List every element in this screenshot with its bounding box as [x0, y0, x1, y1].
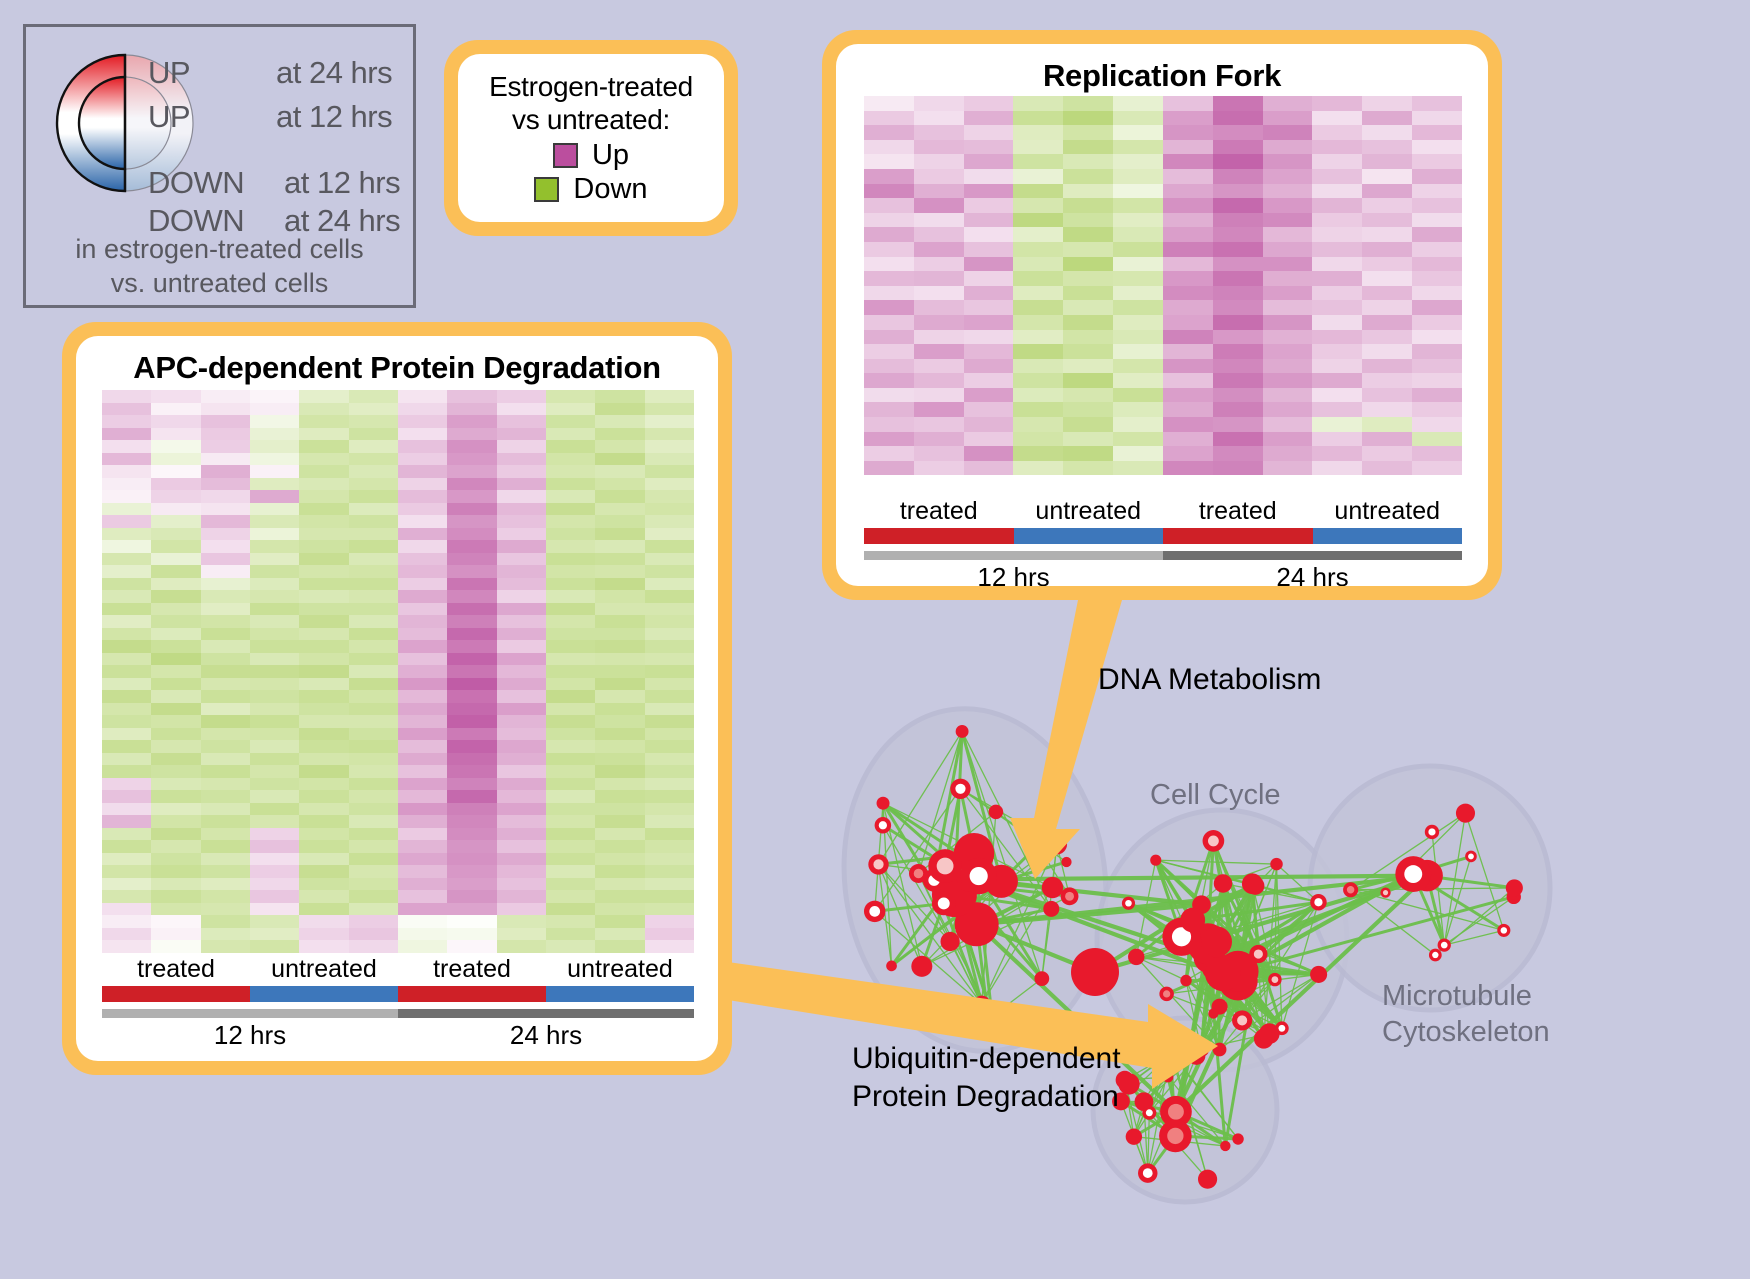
heatmap-cell	[1312, 402, 1362, 417]
heatmap-cell	[1163, 446, 1213, 461]
heatmap-cell	[201, 903, 250, 916]
heatmap-cell	[201, 890, 250, 903]
heatmap-cell	[349, 478, 398, 491]
heatmap-cell	[1013, 417, 1063, 432]
heatmap-cell	[1063, 242, 1113, 257]
heatmap-cell	[1113, 125, 1163, 140]
heatmap-cell	[595, 603, 644, 616]
heatmap-cell	[1312, 140, 1362, 155]
heatmap-cell	[447, 753, 496, 766]
heatmap-cell	[1113, 96, 1163, 111]
heatmap-cell	[250, 428, 299, 441]
apc-title: APC-dependent Protein Degradation	[76, 336, 718, 386]
heatmap-cell	[201, 865, 250, 878]
network-node	[868, 854, 888, 874]
heatmap-cell	[102, 440, 151, 453]
heatmap-cell	[201, 478, 250, 491]
heatmap-cell	[595, 703, 644, 716]
heatmap-cell	[546, 878, 595, 891]
network-node	[1128, 949, 1144, 965]
heatmap-cell	[398, 828, 447, 841]
heatmap-cell	[349, 465, 398, 478]
heatmap-cell	[201, 653, 250, 666]
heatmap-cell	[546, 790, 595, 803]
heatmap-cell	[250, 653, 299, 666]
heatmap-cell	[1213, 402, 1263, 417]
heatmap-cell	[299, 840, 348, 853]
heatmap-cell	[398, 503, 447, 516]
heatmap-cell	[299, 665, 348, 678]
heatmap-cell	[447, 490, 496, 503]
heatmap-cell	[595, 478, 644, 491]
heatmap-cell	[102, 928, 151, 941]
heatmap-cell	[546, 928, 595, 941]
network-node	[1438, 938, 1451, 951]
heatmap-cell	[349, 653, 398, 666]
heatmap-cell	[102, 778, 151, 791]
heatmap-cell	[102, 803, 151, 816]
heatmap-cell	[201, 453, 250, 466]
heatmap-cell	[201, 803, 250, 816]
heatmap-cell	[1263, 198, 1313, 213]
heatmap-cell	[349, 703, 398, 716]
heatmap-cell	[151, 578, 200, 591]
heatmap-cell	[201, 790, 250, 803]
heatmap-cell	[1412, 125, 1462, 140]
heatmap-cell	[102, 853, 151, 866]
heatmap-cell	[201, 615, 250, 628]
heatmap-cell	[1163, 402, 1213, 417]
network-node	[1122, 897, 1135, 910]
heatmap-cell	[595, 578, 644, 591]
heatmap-cell	[102, 840, 151, 853]
heatmap-cell	[102, 453, 151, 466]
heatmap-cell	[1362, 344, 1412, 359]
heatmap-cell	[151, 528, 200, 541]
heatmap-cell	[102, 490, 151, 503]
heatmap-cell	[151, 678, 200, 691]
heatmap-cell	[250, 715, 299, 728]
network-node	[1034, 971, 1049, 986]
heatmap-cell	[299, 828, 348, 841]
heatmap-cell	[151, 615, 200, 628]
heatmap-cell	[645, 628, 694, 641]
heatmap-cell	[595, 940, 644, 953]
heatmap-cell	[1312, 446, 1362, 461]
heatmap-cell	[349, 553, 398, 566]
rf-timebar-12	[864, 551, 1163, 560]
heatmap-cell	[1362, 184, 1412, 199]
heatmap-cell	[102, 815, 151, 828]
heatmap-cell	[151, 628, 200, 641]
heatmap-cell	[250, 590, 299, 603]
heatmap-cell	[349, 640, 398, 653]
network-node	[1161, 1042, 1181, 1062]
heatmap-cell	[1362, 154, 1412, 169]
heatmap-cell	[546, 528, 595, 541]
heatmap-cell	[447, 703, 496, 716]
heatmap-cell	[299, 453, 348, 466]
heatmap-cell	[595, 740, 644, 753]
heatmap-cell	[595, 640, 644, 653]
heatmap-cell	[349, 490, 398, 503]
heatmap-cell	[645, 703, 694, 716]
network-node	[1465, 851, 1477, 863]
heatmap-cell	[1113, 344, 1163, 359]
heatmap-cell	[1412, 461, 1462, 476]
legend-caption: in estrogen-treated cells vs. untreated …	[26, 232, 413, 300]
heatmap-cell	[1163, 140, 1213, 155]
heatmap-cell	[299, 428, 348, 441]
rf-cond-0: treated	[864, 496, 1014, 526]
heatmap-cell	[201, 778, 250, 791]
heatmap-cell	[299, 628, 348, 641]
heatmap-cell	[151, 690, 200, 703]
heatmap-cell	[447, 640, 496, 653]
heatmap-cell	[1312, 227, 1362, 242]
heatmap-cell	[964, 461, 1014, 476]
heatmap-cell	[299, 528, 348, 541]
heatmap-cell	[102, 878, 151, 891]
heatmap-cell	[299, 565, 348, 578]
heatmap-cell	[398, 465, 447, 478]
heatmap-cell	[964, 402, 1014, 417]
heatmap-cell	[1412, 432, 1462, 447]
heatmap-cell	[1063, 198, 1113, 213]
heatmap-cell	[1263, 257, 1313, 272]
heatmap-cell	[497, 465, 546, 478]
heatmap-cell	[398, 840, 447, 853]
heatmap-cell	[299, 803, 348, 816]
heatmap-cell	[546, 865, 595, 878]
heatmap-cell	[864, 213, 914, 228]
heatmap-cell	[1263, 373, 1313, 388]
network-node	[950, 779, 970, 799]
heatmap-cell	[447, 390, 496, 403]
heatmap-cell	[1312, 271, 1362, 286]
heatmap-cell	[546, 540, 595, 553]
heatmap-cell	[497, 728, 546, 741]
heatmap-cell	[546, 940, 595, 953]
heatmap-cell	[497, 528, 546, 541]
heatmap-cell	[349, 503, 398, 516]
heatmap-cell	[864, 432, 914, 447]
heatmap-cell	[447, 778, 496, 791]
network-node	[1395, 856, 1431, 892]
heatmap-cell	[1362, 446, 1412, 461]
heatmap-cell	[964, 446, 1014, 461]
apc-timebar-12	[102, 1009, 398, 1018]
heatmap-cell	[201, 390, 250, 403]
heatmap-cell	[1263, 446, 1313, 461]
heatmap-cell	[1312, 213, 1362, 228]
heatmap-cell	[1412, 446, 1462, 461]
heatmap-cell	[151, 590, 200, 603]
heatmap-cell	[1113, 154, 1163, 169]
heatmap-cell	[299, 815, 348, 828]
heatmap-cell	[645, 778, 694, 791]
legend-time-up-12: at 12 hrs	[276, 99, 392, 135]
heatmap-cell	[151, 478, 200, 491]
heatmap-cell	[398, 678, 447, 691]
heatmap-cell	[1263, 286, 1313, 301]
heatmap-cell	[447, 765, 496, 778]
heatmap-cell	[151, 640, 200, 653]
heatmap-cell	[398, 653, 447, 666]
heatmap-cell	[1063, 446, 1113, 461]
heatmap-cell	[201, 853, 250, 866]
heatmap-cell	[250, 853, 299, 866]
heatmap-cell	[1163, 344, 1213, 359]
heatmap-cell	[398, 578, 447, 591]
heatmap-cell	[398, 640, 447, 653]
heatmap-cell	[201, 515, 250, 528]
heatmap-cell	[1213, 286, 1263, 301]
heatmap-cell	[447, 728, 496, 741]
heatmap-cell	[1213, 169, 1263, 184]
heatmap-cell	[349, 890, 398, 903]
heatmap-cell	[645, 640, 694, 653]
heatmap-cell	[1163, 271, 1213, 286]
heatmap-cell	[398, 878, 447, 891]
heatmap-cell	[595, 690, 644, 703]
heatmap-cell	[1362, 373, 1412, 388]
heatmap-cell	[102, 865, 151, 878]
heatmap-cell	[1412, 213, 1462, 228]
network-node	[961, 858, 997, 894]
heatmap-cell	[1213, 154, 1263, 169]
heatmap-cell	[447, 678, 496, 691]
heatmap-cell	[250, 778, 299, 791]
network-node	[1180, 908, 1205, 933]
heatmap-cell	[595, 803, 644, 816]
rf-time-0: 12 hrs	[864, 560, 1163, 586]
heatmap-cell	[595, 515, 644, 528]
network-node	[1425, 825, 1439, 839]
heatmap-cell	[447, 603, 496, 616]
heatmap-cell	[1412, 417, 1462, 432]
heatmap-cell	[1113, 402, 1163, 417]
heatmap-cell	[102, 728, 151, 741]
heatmap-cell	[497, 903, 546, 916]
heatmap-cell	[447, 478, 496, 491]
heatmap-cell	[447, 540, 496, 553]
network-node	[1497, 924, 1510, 937]
heatmap-cell	[595, 415, 644, 428]
heatmap-cell	[645, 740, 694, 753]
heatmap-cell	[1013, 359, 1063, 374]
heatmap-cell	[1063, 300, 1113, 315]
heatmap-cell	[1362, 242, 1412, 257]
heatmap-cell	[1063, 344, 1113, 359]
heatmap-cell	[864, 330, 914, 345]
network-node	[956, 725, 969, 738]
colorwheel-legend: UP at 24 hrs UP at 12 hrs DOWN at 12 hrs…	[23, 24, 416, 308]
heatmap-cell	[299, 690, 348, 703]
heatmap-cell	[151, 540, 200, 553]
heatmap-cell	[1412, 96, 1462, 111]
heatmap-cell	[497, 615, 546, 628]
heatmap-cell	[299, 403, 348, 416]
heatmap-cell	[595, 528, 644, 541]
heatmap-cell	[1312, 96, 1362, 111]
heatmap-cell	[864, 388, 914, 403]
heatmap-cell	[595, 778, 644, 791]
down-swatch-icon	[534, 177, 559, 202]
heatmap-cell	[1263, 111, 1313, 126]
heatmap-cell	[645, 903, 694, 916]
heatmap-cell	[299, 740, 348, 753]
heatmap-cell	[1312, 198, 1362, 213]
apc-time-1: 24 hrs	[398, 1018, 694, 1052]
heatmap-cell	[645, 515, 694, 528]
heatmap-cell	[151, 753, 200, 766]
heatmap-cell	[914, 154, 964, 169]
heatmap-cell	[1312, 315, 1362, 330]
network-node	[1071, 948, 1119, 996]
network-node	[941, 932, 960, 951]
heatmap-cell	[1013, 227, 1063, 242]
heatmap-cell	[1163, 286, 1213, 301]
heatmap-cell	[349, 628, 398, 641]
heatmap-cell	[1362, 330, 1412, 345]
heatmap-cell	[250, 740, 299, 753]
up-swatch-icon	[553, 143, 578, 168]
heatmap-cell	[964, 315, 1014, 330]
heatmap-cell	[914, 344, 964, 359]
heatmap-cell	[1412, 300, 1462, 315]
heatmap-cell	[1163, 300, 1213, 315]
heatmap-cell	[1213, 271, 1263, 286]
heatmap-cell	[964, 169, 1014, 184]
heatmap-cell	[1213, 432, 1263, 447]
heatmap-cell	[914, 417, 964, 432]
apc-bar-treated-24	[398, 986, 546, 1002]
heatmap-cell	[151, 940, 200, 953]
heatmap-cell	[1163, 213, 1213, 228]
network-node	[1205, 955, 1241, 991]
heatmap-cell	[398, 740, 447, 753]
heatmap-cell	[1213, 242, 1263, 257]
heatmap-cell	[864, 300, 914, 315]
heatmap-cell	[250, 415, 299, 428]
heatmap-cell	[595, 453, 644, 466]
heatmap-cell	[250, 878, 299, 891]
apc-time-bars	[102, 1009, 694, 1018]
heatmap-cell	[398, 415, 447, 428]
heatmap-cell	[447, 878, 496, 891]
heatmap-cell	[349, 578, 398, 591]
heatmap-cell	[1013, 344, 1063, 359]
heatmap-cell	[964, 344, 1014, 359]
heatmap-cell	[201, 940, 250, 953]
heatmap-cell	[349, 915, 398, 928]
heatmap-cell	[546, 465, 595, 478]
heatmap-cell	[1213, 257, 1263, 272]
network-node	[1214, 874, 1232, 892]
heatmap-cell	[1412, 257, 1462, 272]
heatmap-cell	[1362, 96, 1412, 111]
heatmap-cell	[1213, 373, 1263, 388]
heatmap-cell	[645, 928, 694, 941]
heatmap-cell	[864, 242, 914, 257]
heatmap-cell	[299, 853, 348, 866]
heatmap-cell	[964, 432, 1014, 447]
heatmap-cell	[645, 565, 694, 578]
heatmap-cell	[1113, 315, 1163, 330]
heatmap-cell	[595, 915, 644, 928]
heatmap-cell	[1163, 388, 1213, 403]
heatmap-cell	[1412, 402, 1462, 417]
heatmap-cell	[250, 803, 299, 816]
heatmap-cell	[497, 915, 546, 928]
heatmap-cell	[299, 490, 348, 503]
heatmap-cell	[447, 865, 496, 878]
heatmap-cell	[299, 903, 348, 916]
heatmap-cell	[546, 890, 595, 903]
legend-time-down-12: at 12 hrs	[284, 165, 400, 201]
heatmap-cell	[1263, 417, 1313, 432]
heatmap-cell	[250, 903, 299, 916]
heatmap-cell	[201, 540, 250, 553]
heatmap-cell	[250, 453, 299, 466]
heatmap-cell	[299, 778, 348, 791]
network-node	[1246, 877, 1264, 895]
heatmap-cell	[1013, 373, 1063, 388]
heatmap-cell	[299, 578, 348, 591]
heatmap-cell	[595, 853, 644, 866]
heatmap-cell	[299, 878, 348, 891]
heatmap-cell	[964, 373, 1014, 388]
heatmap-cell	[250, 603, 299, 616]
heatmap-cell	[1113, 330, 1163, 345]
heatmap-cell	[102, 703, 151, 716]
heatmap-cell	[102, 465, 151, 478]
network-node	[877, 797, 890, 810]
heatmap-cell	[250, 528, 299, 541]
heatmap-cell	[349, 865, 398, 878]
heatmap-cell	[546, 390, 595, 403]
heatmap-cell	[497, 890, 546, 903]
heatmap-cell	[497, 503, 546, 516]
heatmap-cell	[201, 640, 250, 653]
heatmap-cell	[497, 865, 546, 878]
heatmap-cell	[1113, 432, 1163, 447]
heatmap-cell	[1163, 359, 1213, 374]
heatmap-cell	[1013, 388, 1063, 403]
rf-cond-1: untreated	[1014, 496, 1164, 526]
heatmap-cell	[645, 465, 694, 478]
heatmap-cell	[546, 803, 595, 816]
heatmap-cell	[1412, 388, 1462, 403]
heatmap-cell	[914, 111, 964, 126]
heatmap-cell	[1362, 111, 1412, 126]
apc-cond-2: treated	[398, 954, 546, 984]
heatmap-cell	[546, 590, 595, 603]
heatmap-cell	[299, 503, 348, 516]
network-node	[1126, 1128, 1142, 1144]
network-node	[1429, 949, 1442, 962]
heatmap-cell	[201, 690, 250, 703]
heatmap-cell	[645, 715, 694, 728]
heatmap-cell	[398, 690, 447, 703]
heatmap-cell	[1113, 169, 1163, 184]
heatmap-cell	[151, 765, 200, 778]
heatmap-cell	[1063, 184, 1113, 199]
network-node	[1270, 858, 1282, 870]
heatmap-cell	[645, 553, 694, 566]
rf-time-1: 24 hrs	[1163, 560, 1462, 586]
